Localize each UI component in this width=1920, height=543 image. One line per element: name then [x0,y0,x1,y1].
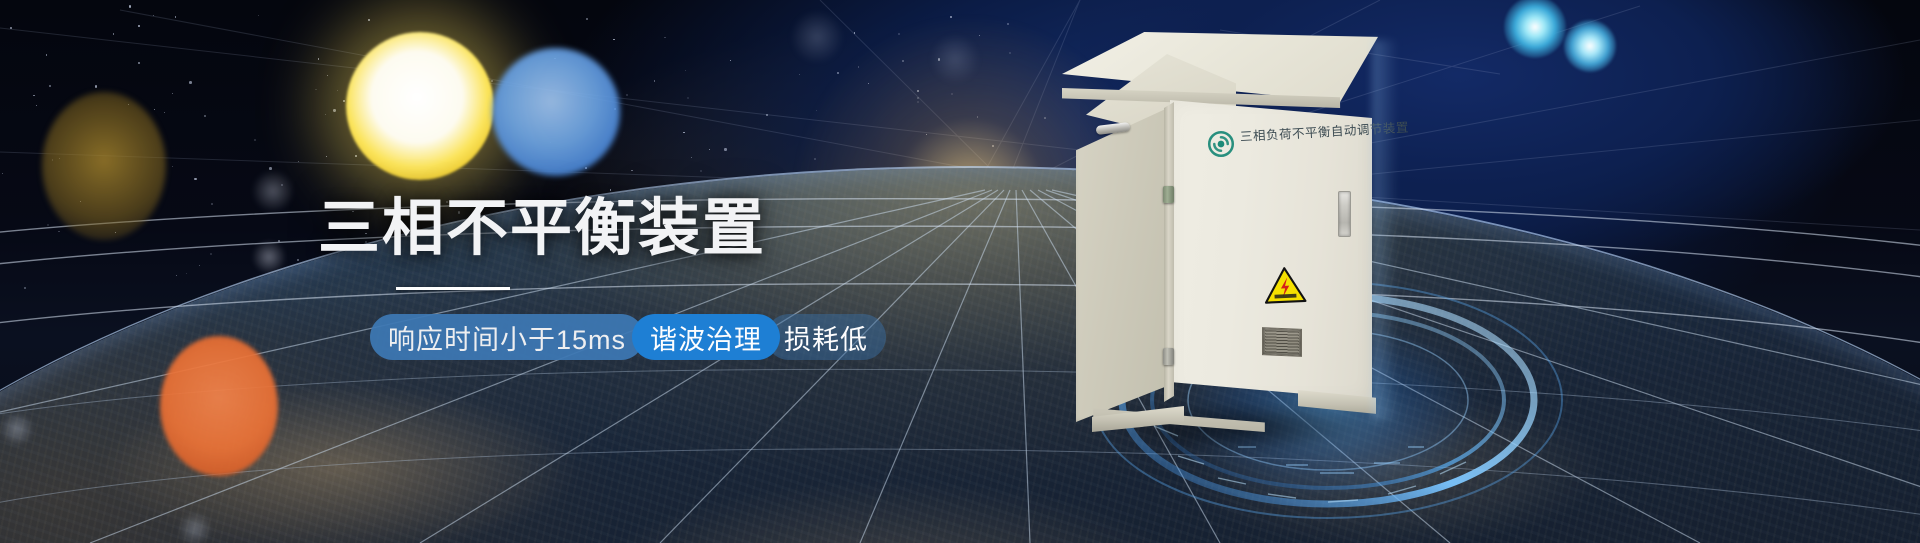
bokeh-orb-dim [178,512,212,543]
bokeh-orb-dim [252,240,286,274]
cabinet-ventilation-grille [1262,327,1302,357]
banner-title: 三相不平衡装置 [318,196,886,261]
cabinet-rim-light [1372,40,1398,420]
title-divider-rule [396,287,510,290]
city-lights-glow [0,168,1920,543]
bokeh-orb-dim [252,170,294,212]
bokeh-orb-orange [160,336,278,476]
banner-text-block: 三相不平衡装置 响应时间小于15ms 谐波治理 损耗低 [318,196,886,360]
earth-globe-surface [0,168,1920,543]
cabinet-hinge-upper [1163,186,1174,203]
bokeh-orb-white [346,32,494,180]
bokeh-orb-blue [492,48,620,176]
electrical-hazard-warning-icon [1263,265,1307,305]
company-logo-icon [1207,130,1235,158]
feature-tag-response-time[interactable]: 响应时间小于15ms [370,314,644,360]
feature-tag-low-loss[interactable]: 损耗低 [766,314,886,360]
bokeh-orb-amber [42,92,166,240]
bokeh-orb-dim [930,34,980,84]
cabinet-hinge-lower [1163,348,1174,365]
bokeh-orb-dim [0,412,34,446]
cabinet-left-side-panel [1076,106,1172,422]
cabinet-door-lock[interactable] [1338,191,1351,237]
feature-tag-list: 响应时间小于15ms 谐波治理 损耗低 [370,314,886,360]
product-cabinet: 三相负荷不平衡自动调节装置 [1060,18,1390,438]
vent-louvers [1265,330,1299,354]
feature-tag-harmonic-control[interactable]: 谐波治理 [632,314,780,360]
hero-banner: 三相不平衡装置 响应时间小于15ms 谐波治理 损耗低 三相 [0,0,1920,543]
bokeh-orb-dim [790,10,844,64]
sparkle-light [1564,20,1616,72]
